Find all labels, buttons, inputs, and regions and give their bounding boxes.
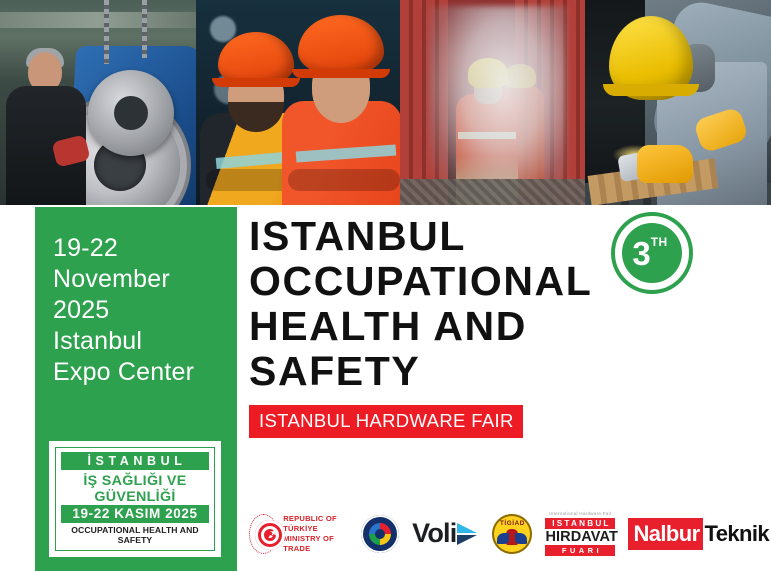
badge-disc: 3 TH xyxy=(622,223,682,283)
date-line-2: November xyxy=(53,264,223,295)
play-top-half xyxy=(457,523,477,533)
hard-hat-brim xyxy=(603,84,699,96)
date-line-1: 19-22 xyxy=(53,233,223,264)
ministry-line-1: REPUBLIC OF TÜRKİYE xyxy=(283,514,348,534)
hoist-chain xyxy=(104,0,109,64)
sponsor-nalbur-teknik[interactable]: Nalbur Teknik xyxy=(628,518,769,550)
ihf-line-hirdavat: HIRDAVAT xyxy=(545,529,615,545)
fair-logo-inner-frame: İSTANBUL İŞ SAĞLIĞI VE GÜVENLİĞİ 19-22 K… xyxy=(55,447,215,551)
chamber-emblem-icon xyxy=(361,515,399,553)
play-bottom-half xyxy=(457,535,477,545)
hard-hat-brim xyxy=(292,69,390,78)
crossed-arms xyxy=(288,169,400,191)
emblem-color-wheel xyxy=(369,523,391,545)
tigiad-wordmark: TİGİAD xyxy=(492,520,532,527)
sponsor-istanbul-hirdavat-fuari[interactable]: International Hardware Fair ISTANBUL HIR… xyxy=(545,511,615,556)
event-date-panel: 19-22 November 2025 Istanbul Expo Center… xyxy=(35,207,237,571)
metal-flange xyxy=(88,70,174,156)
badge-suffix: TH xyxy=(651,235,668,249)
event-date-text: 19-22 November 2025 Istanbul Expo Center xyxy=(53,233,223,388)
ihf-line-fuari: FUARI xyxy=(545,545,615,556)
badge-number: 3 xyxy=(632,237,650,270)
ihf-line-istanbul: ISTANBUL xyxy=(545,518,615,529)
fair-logo-dates: 19-22 KASIM 2025 xyxy=(61,505,209,523)
title-line-4: SAFETY xyxy=(249,349,761,394)
sponsor-voli[interactable]: Voli xyxy=(412,518,479,549)
photo-two-workers-helmets xyxy=(196,0,400,205)
worker-figure xyxy=(8,52,84,205)
photo-firefighter-smoke xyxy=(400,0,585,205)
tigiad-emblem-icon: TİGİAD xyxy=(492,514,532,554)
tigiad-wing-right xyxy=(515,533,527,544)
ceiling-beam xyxy=(0,12,196,28)
smoke-cloud xyxy=(428,6,566,204)
photo-strip xyxy=(0,0,771,205)
tigiad-wing-left xyxy=(497,533,509,544)
gravel-ground xyxy=(400,179,585,205)
date-line-3: 2025 xyxy=(53,295,223,326)
ministry-label: REPUBLIC OF TÜRKİYE MINISTRY OF TRADE xyxy=(283,514,348,554)
sponsor-chamber-emblem[interactable] xyxy=(361,515,399,553)
voli-play-icon xyxy=(457,523,479,545)
fair-logo-istanbul: İSTANBUL xyxy=(61,452,209,470)
photo-metal-grinding xyxy=(585,0,771,205)
sponsor-tigiad[interactable]: TİGİAD xyxy=(492,514,532,554)
female-worker xyxy=(282,15,400,205)
edition-badge: 3 TH xyxy=(611,212,693,294)
ministry-crescent-icon xyxy=(249,514,278,554)
date-line-4: Istanbul xyxy=(53,326,223,357)
teknik-wordmark: Teknik xyxy=(705,521,769,547)
yellow-glove xyxy=(637,145,693,183)
nalbur-wordmark: Nalbur xyxy=(628,518,702,550)
title-line-3: HEALTH AND xyxy=(249,304,761,349)
hardware-fair-banner: ISTANBUL HARDWARE FAIR xyxy=(249,405,523,438)
fair-logo-english-title: OCCUPATIONAL HEALTH AND SAFETY xyxy=(62,523,209,545)
photo-industrial-gears xyxy=(0,0,196,205)
date-line-5: Expo Center xyxy=(53,357,223,388)
main-content: 3 TH ISTANBUL OCCUPATIONAL HEALTH AND SA… xyxy=(249,214,761,438)
sponsor-ministry-of-trade[interactable]: REPUBLIC OF TÜRKİYE MINISTRY OF TRADE xyxy=(249,514,348,554)
ministry-line-2: MINISTRY OF TRADE xyxy=(283,534,348,554)
fair-logo-turkish-title: İŞ SAĞLIĞI VE GÜVENLİĞİ xyxy=(60,470,211,505)
voli-wordmark: Voli xyxy=(412,518,456,549)
orange-hard-hat xyxy=(298,15,384,75)
fair-logo: İSTANBUL İŞ SAĞLIĞI VE GÜVENLİĞİ 19-22 K… xyxy=(49,441,221,557)
crescent-rings xyxy=(255,520,285,550)
hoist-chain-2 xyxy=(142,0,147,58)
ihf-tagline: International Hardware Fair xyxy=(545,511,615,517)
sponsor-logo-row: REPUBLIC OF TÜRKİYE MINISTRY OF TRADE Vo… xyxy=(249,506,769,561)
